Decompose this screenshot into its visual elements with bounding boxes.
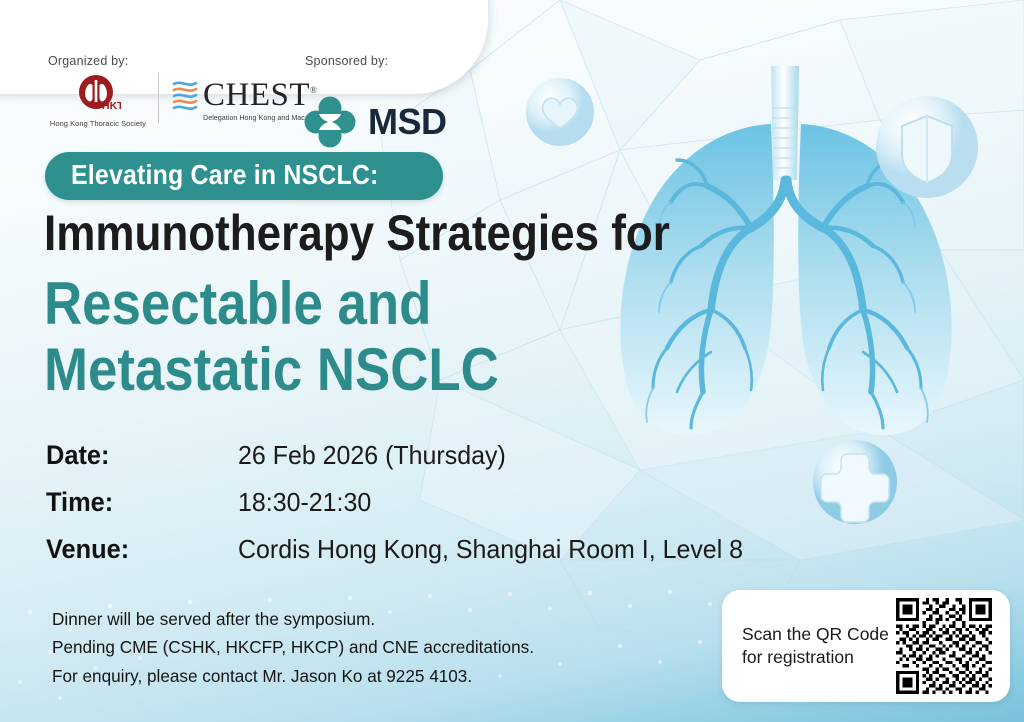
footer-notes: Dinner will be served after the symposiu… (52, 608, 544, 693)
qr-code-icon[interactable] (896, 598, 992, 694)
hkts-logo: HKTS Hong Kong Thoracic Society (46, 72, 150, 128)
qr-line-2: for registration (742, 646, 892, 669)
venue-label: Venue: (46, 534, 226, 565)
note-enquiry: For enquiry, please contact Mr. Jason Ko… (52, 665, 534, 688)
logo-row: HKTS Hong Kong Thoracic Society (46, 72, 317, 128)
title-eyebrow-text: Elevating Care in NSCLC: (71, 161, 379, 189)
symposium-poster: Organized by: Sponsored by: HKTS Hong Ko… (0, 0, 1024, 722)
qr-instruction-text: Scan the QR Code for registration (742, 623, 892, 669)
chest-wordmark: CHEST® (203, 79, 317, 112)
organized-by-label: Organized by: (48, 54, 128, 68)
date-label: Date: (46, 440, 226, 471)
event-details: Date: 26 Feb 2026 (Thursday) Time: 18:30… (46, 440, 806, 581)
note-accreditation: Pending CME (CSHK, HKCFP, HKCP) and CNE … (52, 636, 534, 659)
chest-word-text: CHEST (203, 77, 310, 113)
medical-cross-badge-icon (805, 432, 905, 532)
chest-registered-mark: ® (310, 85, 317, 95)
qr-registration-card[interactable]: Scan the QR Code for registration (722, 590, 1010, 702)
page-title-line-2: Resectable and (44, 274, 431, 334)
shield-badge-icon (868, 88, 986, 206)
chest-logo: CHEST® Delegation Hong Kong and Macau (171, 78, 317, 122)
detail-row-venue: Venue: Cordis Hong Kong, Shanghai Room I… (46, 534, 806, 565)
heart-badge-icon (520, 72, 600, 152)
venue-value: Cordis Hong Kong, Shanghai Room I, Level… (238, 534, 743, 565)
qr-line-1: Scan the QR Code (742, 623, 892, 646)
msd-clover-icon (304, 96, 356, 148)
date-value: 26 Feb 2026 (Thursday) (238, 440, 506, 471)
hkts-name: Hong Kong Thoracic Society (50, 119, 146, 128)
sponsored-by-label: Sponsored by: (305, 54, 388, 68)
logo-divider (158, 73, 159, 123)
page-title-line-3: Metastatic NSCLC (44, 340, 499, 400)
page-title-line-1: Immunotherapy Strategies for (44, 208, 670, 258)
detail-row-time: Time: 18:30-21:30 (46, 487, 806, 518)
lungs-circle-icon: HKTS (75, 72, 121, 118)
msd-logo: MSD (304, 96, 447, 148)
msd-wordmark: MSD (368, 104, 447, 140)
time-label: Time: (46, 487, 226, 518)
title-eyebrow-badge: Elevating Care in NSCLC: (45, 152, 443, 200)
sponsor-header-content: Organized by: Sponsored by: HKTS Hong Ko… (60, 46, 548, 140)
chest-stripes-icon (171, 78, 199, 112)
svg-text:HKTS: HKTS (102, 100, 121, 112)
note-dinner: Dinner will be served after the symposiu… (52, 608, 534, 631)
detail-row-date: Date: 26 Feb 2026 (Thursday) (46, 440, 806, 471)
time-value: 18:30-21:30 (238, 487, 371, 518)
chest-subtitle: Delegation Hong Kong and Macau (203, 113, 313, 122)
